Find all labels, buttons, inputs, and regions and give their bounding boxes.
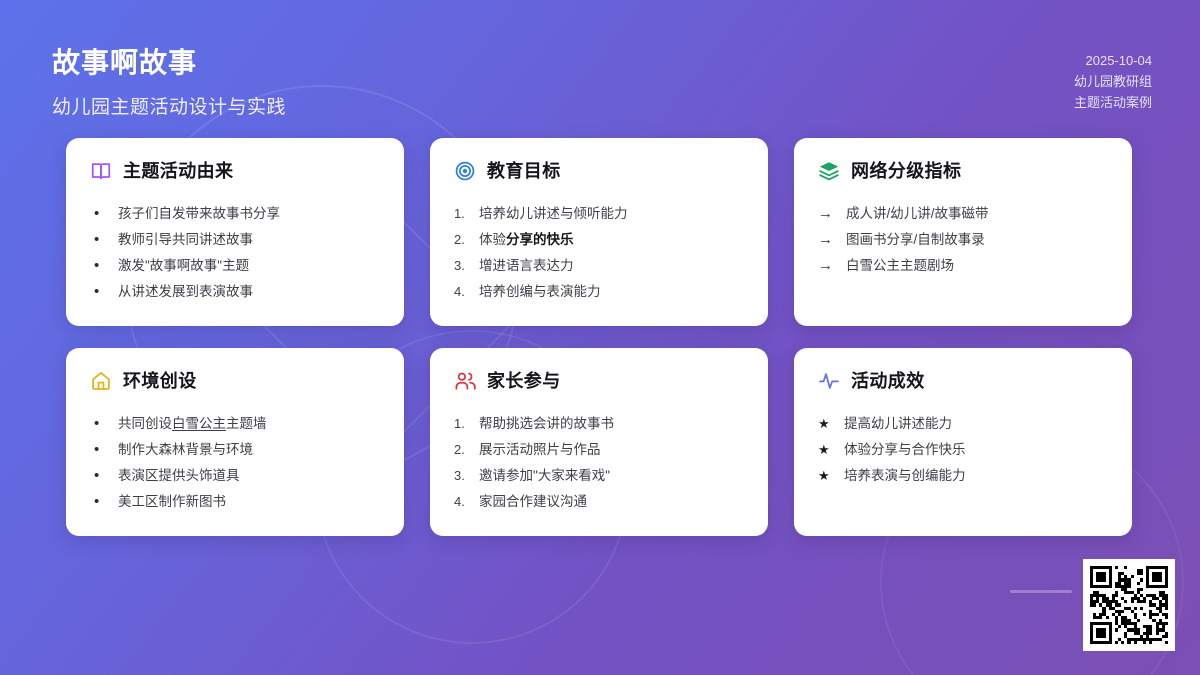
list-item: •激发"故事啊故事"主题 bbox=[90, 253, 380, 279]
list-marker: ★ bbox=[818, 437, 836, 463]
list-item: •孩子们自发带来故事书分享 bbox=[90, 201, 380, 227]
card-header: 网络分级指标 bbox=[818, 158, 1108, 184]
list-item-text: 展示活动照片与作品 bbox=[479, 437, 601, 463]
page-subtitle: 幼儿园主题活动设计与实践 bbox=[52, 98, 286, 117]
card-title: 主题活动由来 bbox=[123, 160, 233, 182]
list-item: 1.帮助挑选会讲的故事书 bbox=[454, 411, 744, 437]
card-title: 教育目标 bbox=[487, 160, 561, 182]
card-header: 环境创设 bbox=[90, 368, 380, 394]
card-education-goals: 教育目标1.培养幼儿讲述与倾听能力2.体验分享的快乐3.增进语言表达力4.培养创… bbox=[430, 138, 768, 326]
card-list: →成人讲/幼儿讲/故事磁带→图画书分享/自制故事录→白雪公主主题剧场 bbox=[818, 201, 1108, 279]
list-item-text: 培养幼儿讲述与倾听能力 bbox=[479, 201, 628, 227]
list-item-text: 制作大森林背景与环境 bbox=[118, 437, 253, 463]
list-marker: 2. bbox=[454, 227, 471, 253]
list-marker: 2. bbox=[454, 437, 471, 463]
list-item: →白雪公主主题剧场 bbox=[818, 253, 1108, 279]
list-marker: 3. bbox=[454, 463, 471, 489]
list-item: 3.增进语言表达力 bbox=[454, 253, 744, 279]
list-marker: • bbox=[90, 463, 110, 489]
list-item-text: 激发"故事啊故事"主题 bbox=[118, 253, 249, 279]
list-item-text: 帮助挑选会讲的故事书 bbox=[479, 411, 614, 437]
target-icon bbox=[454, 160, 476, 182]
card-list: ★提高幼儿讲述能力★体验分享与合作快乐★培养表演与创编能力 bbox=[818, 411, 1108, 489]
card-network-levels: 网络分级指标→成人讲/幼儿讲/故事磁带→图画书分享/自制故事录→白雪公主主题剧场 bbox=[794, 138, 1132, 326]
list-marker: • bbox=[90, 279, 110, 305]
list-item-text: 共同创设白雪公主主题墙 bbox=[118, 411, 267, 437]
card-list: 1.帮助挑选会讲的故事书2.展示活动照片与作品3.邀请参加"大家来看戏"4.家园… bbox=[454, 411, 744, 515]
card-parent-participation: 家长参与1.帮助挑选会讲的故事书2.展示活动照片与作品3.邀请参加"大家来看戏"… bbox=[430, 348, 768, 536]
list-item: →图画书分享/自制故事录 bbox=[818, 227, 1108, 253]
list-item: •制作大森林背景与环境 bbox=[90, 437, 380, 463]
list-marker: • bbox=[90, 489, 110, 515]
activity-icon bbox=[818, 370, 840, 392]
list-item-text: 图画书分享/自制故事录 bbox=[846, 227, 985, 253]
list-item: 4.家园合作建议沟通 bbox=[454, 489, 744, 515]
home-icon bbox=[90, 370, 112, 392]
list-item-text: 表演区提供头饰道具 bbox=[118, 463, 240, 489]
list-item-text: 孩子们自发带来故事书分享 bbox=[118, 201, 280, 227]
page-title: 故事啊故事 bbox=[52, 49, 197, 77]
list-item-text: 白雪公主主题剧场 bbox=[846, 253, 954, 279]
card-header: 活动成效 bbox=[818, 368, 1108, 394]
list-item: 2.体验分享的快乐 bbox=[454, 227, 744, 253]
list-item-text: 提高幼儿讲述能力 bbox=[844, 411, 952, 437]
list-marker: → bbox=[818, 201, 838, 227]
list-item-text: 体验分享与合作快乐 bbox=[844, 437, 966, 463]
slide-header: 故事啊故事 幼儿园主题活动设计与实践 2025-10-04 幼儿园教研组 主题活… bbox=[0, 0, 1200, 130]
list-item: 4.培养创编与表演能力 bbox=[454, 279, 744, 305]
list-item: •共同创设白雪公主主题墙 bbox=[90, 411, 380, 437]
list-item: •从讲述发展到表演故事 bbox=[90, 279, 380, 305]
list-marker: 1. bbox=[454, 201, 471, 227]
list-item: •教师引导共同讲述故事 bbox=[90, 227, 380, 253]
list-item-text: 体验分享的快乐 bbox=[479, 227, 574, 253]
card-title: 活动成效 bbox=[851, 370, 925, 392]
qr-code[interactable] bbox=[1083, 559, 1175, 651]
meta-date: 2025-10-04 bbox=[1074, 50, 1152, 71]
card-title: 网络分级指标 bbox=[851, 160, 961, 182]
list-item: •表演区提供头饰道具 bbox=[90, 463, 380, 489]
footer-divider bbox=[1010, 590, 1072, 593]
card-theme-origin: 主题活动由来•孩子们自发带来故事书分享•教师引导共同讲述故事•激发"故事啊故事"… bbox=[66, 138, 404, 326]
list-item: 1.培养幼儿讲述与倾听能力 bbox=[454, 201, 744, 227]
list-marker: • bbox=[90, 253, 110, 279]
users-icon bbox=[454, 370, 476, 392]
list-marker: • bbox=[90, 411, 110, 437]
card-list: •孩子们自发带来故事书分享•教师引导共同讲述故事•激发"故事啊故事"主题•从讲述… bbox=[90, 201, 380, 305]
layers-icon bbox=[818, 160, 840, 182]
list-item-text: 成人讲/幼儿讲/故事磁带 bbox=[846, 201, 989, 227]
card-header: 教育目标 bbox=[454, 158, 744, 184]
list-marker: • bbox=[90, 227, 110, 253]
list-marker: → bbox=[818, 253, 838, 279]
list-item: ★培养表演与创编能力 bbox=[818, 463, 1108, 489]
list-marker: → bbox=[818, 227, 838, 253]
list-item: 3.邀请参加"大家来看戏" bbox=[454, 463, 744, 489]
header-meta: 2025-10-04 幼儿园教研组 主题活动案例 bbox=[1074, 50, 1152, 113]
list-marker: • bbox=[90, 437, 110, 463]
card-title: 环境创设 bbox=[123, 370, 197, 392]
list-item-text: 家园合作建议沟通 bbox=[479, 489, 587, 515]
list-marker: 4. bbox=[454, 489, 471, 515]
list-marker: ★ bbox=[818, 411, 836, 437]
card-header: 家长参与 bbox=[454, 368, 744, 394]
card-list: •共同创设白雪公主主题墙•制作大森林背景与环境•表演区提供头饰道具•美工区制作新… bbox=[90, 411, 380, 515]
list-item-text: 培养表演与创编能力 bbox=[844, 463, 966, 489]
list-item: 2.展示活动照片与作品 bbox=[454, 437, 744, 463]
list-marker: 1. bbox=[454, 411, 471, 437]
card-activity-outcomes: 活动成效★提高幼儿讲述能力★体验分享与合作快乐★培养表演与创编能力 bbox=[794, 348, 1132, 536]
list-item-text: 从讲述发展到表演故事 bbox=[118, 279, 253, 305]
list-item-text: 增进语言表达力 bbox=[479, 253, 574, 279]
book-icon bbox=[90, 160, 112, 182]
list-item: •美工区制作新图书 bbox=[90, 489, 380, 515]
list-item-text: 教师引导共同讲述故事 bbox=[118, 227, 253, 253]
qr-code-matrix bbox=[1090, 566, 1168, 644]
list-marker: ★ bbox=[818, 463, 836, 489]
list-item-text: 培养创编与表演能力 bbox=[479, 279, 601, 305]
card-title: 家长参与 bbox=[487, 370, 561, 392]
card-header: 主题活动由来 bbox=[90, 158, 380, 184]
card-grid: 主题活动由来•孩子们自发带来故事书分享•教师引导共同讲述故事•激发"故事啊故事"… bbox=[66, 138, 1138, 536]
slide-canvas: 故事啊故事 幼儿园主题活动设计与实践 2025-10-04 幼儿园教研组 主题活… bbox=[0, 0, 1200, 675]
list-marker: 4. bbox=[454, 279, 471, 305]
meta-category: 主题活动案例 bbox=[1074, 92, 1152, 113]
list-item: ★提高幼儿讲述能力 bbox=[818, 411, 1108, 437]
list-marker: 3. bbox=[454, 253, 471, 279]
list-item: →成人讲/幼儿讲/故事磁带 bbox=[818, 201, 1108, 227]
list-item-text: 美工区制作新图书 bbox=[118, 489, 226, 515]
card-environment-setup: 环境创设•共同创设白雪公主主题墙•制作大森林背景与环境•表演区提供头饰道具•美工… bbox=[66, 348, 404, 536]
meta-organization: 幼儿园教研组 bbox=[1074, 71, 1152, 92]
list-item: ★体验分享与合作快乐 bbox=[818, 437, 1108, 463]
card-list: 1.培养幼儿讲述与倾听能力2.体验分享的快乐3.增进语言表达力4.培养创编与表演… bbox=[454, 201, 744, 305]
list-marker: • bbox=[90, 201, 110, 227]
list-item-text: 邀请参加"大家来看戏" bbox=[479, 463, 610, 489]
